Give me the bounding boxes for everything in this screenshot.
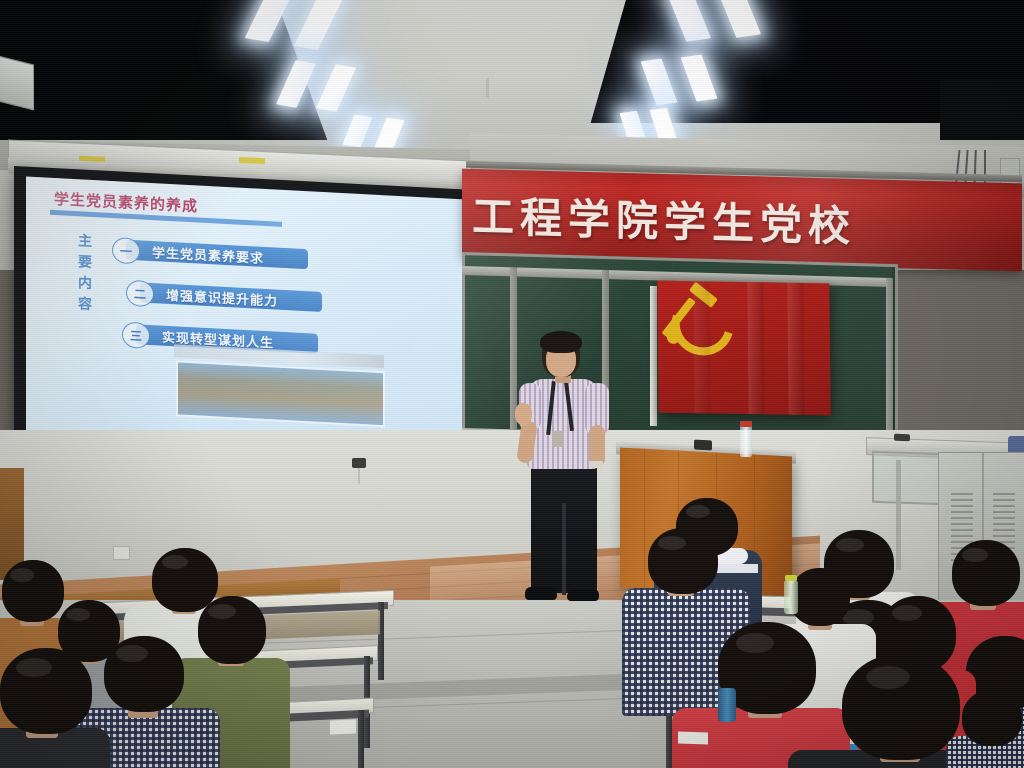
ceiling-pendant-head [482,98,493,105]
shelf-glass-panel [872,451,946,506]
lecturer-shoe-left [525,587,557,600]
water-bottle-podium[interactable] [740,425,752,457]
ceiling-vent [0,56,34,111]
screen-glare [26,176,466,461]
lecture-hall-photo: 学生党员素养的养成 主要内容 学生党员素养要求 一 增强意识提升能力 二 实现转… [0,0,1024,768]
shelf-object [894,434,910,442]
water-bottle-desk-green[interactable] [784,580,798,614]
lecturer-hand-left [515,403,532,425]
lecturer-trouser-seam [562,503,566,595]
lecturer-wristwatch [589,461,603,468]
lecturer-hair [540,331,582,353]
paper-on-desk-left[interactable] [330,719,356,734]
party-flag [657,281,830,416]
bottle-cap-green [785,575,797,581]
water-bottle-cap [740,421,752,427]
ceiling-pendant [486,78,489,100]
water-bottle-desk-blue[interactable] [718,688,736,722]
lecturer [505,325,625,620]
remote-control[interactable] [694,440,712,451]
projector-mount [352,458,366,468]
paper-on-desk-right[interactable] [678,731,708,744]
lecturer-badge [552,431,564,447]
lecturer-shoe-right [567,589,599,601]
shelf-support [896,460,901,570]
wall-outlet [113,546,130,560]
ceiling-recess-right-2 [940,80,1024,140]
flag-hanger [650,286,657,426]
